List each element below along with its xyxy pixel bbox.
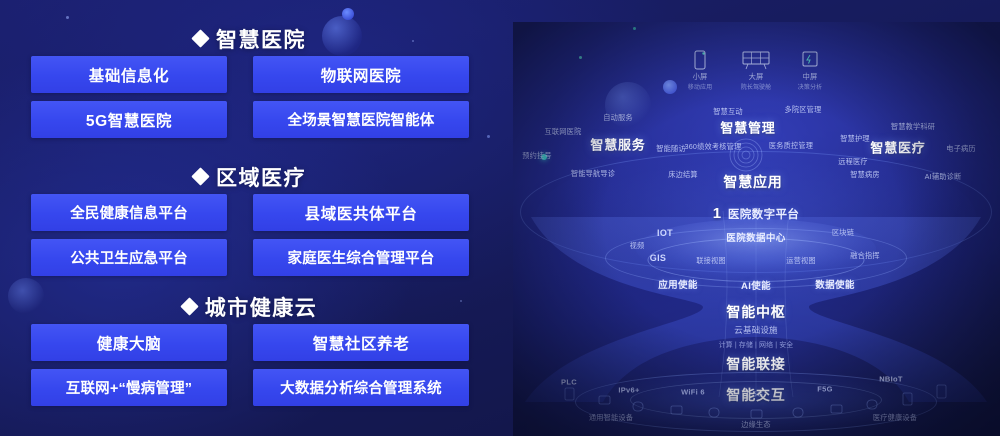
- platform-ring-outer: [605, 228, 907, 288]
- fingerprint-icon: [728, 137, 764, 173]
- enable-tag: AI使能: [741, 278, 771, 292]
- network-tag: 5G: [753, 390, 764, 399]
- medical-tag: 智慧病房: [850, 170, 880, 180]
- service-tag: 智能随访: [656, 144, 686, 154]
- section-grid: 全民健康信息平台 县域医共体平台 公共卫生应急平台 家庭医生综合管理平台: [0, 194, 500, 276]
- device-sublabel: 决策分析: [798, 82, 822, 91]
- diamond-icon: [191, 167, 209, 185]
- feature-cell[interactable]: 公共卫生应急平台: [31, 239, 227, 276]
- manage-tag: 远程医疗: [838, 157, 868, 167]
- section-grid: 基础信息化 物联网医院 5G智慧医院 全场景智慧医院智能体: [0, 56, 500, 138]
- device-sublabel: 院长驾驶舱: [741, 82, 772, 91]
- network-tag: NBIoT: [879, 375, 903, 384]
- decorative-speck: [541, 154, 547, 160]
- service-tag: 预约挂号: [522, 151, 552, 161]
- section-title: 智慧医院: [0, 22, 500, 56]
- phone-icon-caption: 小屏 移动应用: [688, 72, 712, 91]
- panel-vignette: [513, 22, 1000, 436]
- section-grid: 健康大脑 智慧社区养老 互联网+“慢病管理” 大数据分析综合管理系统: [0, 324, 500, 406]
- decorative-speck: [633, 27, 636, 30]
- domain-label-smart-medical: 智慧医疗: [870, 138, 925, 157]
- network-tag: F5G: [817, 385, 833, 394]
- decorative-orb: [605, 82, 651, 128]
- device-label: 大屏: [741, 72, 772, 82]
- device-label: 小屏: [688, 72, 712, 82]
- enable-tag: 应用使能: [658, 277, 698, 291]
- base-dish-rim: [575, 372, 937, 432]
- tablet-icon: [801, 50, 819, 70]
- hub-title: 云基础设施: [734, 324, 778, 336]
- platform-ring-tag: GIS: [650, 253, 666, 263]
- platform-ring-inner: [648, 238, 865, 282]
- feature-cell[interactable]: 全场景智慧医院智能体: [253, 101, 469, 138]
- feature-cell[interactable]: 家庭医生综合管理平台: [253, 239, 469, 276]
- manage-tag: 医务质控管理: [769, 141, 813, 151]
- section-title-text: 城市健康云: [205, 292, 318, 322]
- section-title: 区域医疗: [0, 160, 500, 194]
- medical-tag: 智慧护理: [840, 134, 870, 144]
- architecture-diagram-panel: 小屏 移动应用 大屏 院长驾驶舱 中屏 决策分析 自动服务 互联网医院 预约挂号…: [513, 22, 1000, 436]
- platform-ring-tag: 联接视图: [696, 256, 726, 266]
- platform-title-row: 1医院数字平台: [713, 205, 800, 223]
- edge-device-chips: [513, 374, 1000, 434]
- feature-cell[interactable]: 大数据分析综合管理系统: [253, 369, 469, 406]
- platform-ring-tag: 区块链: [832, 228, 854, 238]
- base-dish-inner: [630, 381, 882, 419]
- manage-tag: 多院区管理: [785, 105, 822, 115]
- hub-subtitle: 计算 | 存储 | 网络 | 安全: [719, 340, 794, 350]
- feature-cell[interactable]: 健康大脑: [31, 324, 227, 361]
- feature-cell[interactable]: 全民健康信息平台: [31, 194, 227, 231]
- section-smart-hospital: 智慧医院 基础信息化 物联网医院 5G智慧医院 全场景智慧医院智能体: [0, 22, 500, 138]
- edge-tag: 医疗健康设备: [873, 413, 917, 423]
- section-title: 城市健康云: [0, 290, 500, 324]
- enable-tag: 数据使能: [815, 277, 855, 291]
- platform-ring-tag: IOT: [657, 228, 673, 238]
- network-tag: IPv6+: [618, 386, 639, 395]
- feature-cell[interactable]: 5G智慧医院: [31, 101, 227, 138]
- infographic-stage: 智慧医院 基础信息化 物联网医院 5G智慧医院 全场景智慧医院智能体 区域医疗 …: [0, 0, 1000, 436]
- medical-tag: AI辅助诊断: [925, 172, 962, 182]
- feature-cell[interactable]: 智慧社区养老: [253, 324, 469, 361]
- platform-title: 医院数字平台: [728, 209, 799, 221]
- decorative-speck: [579, 56, 582, 59]
- platform-ring-tag: 运营视图: [786, 256, 816, 266]
- platform-ring-tag: 视频: [630, 241, 645, 251]
- service-tag: 自动服务: [603, 113, 633, 123]
- platform-ring-tag: 融合指挥: [850, 251, 880, 261]
- medical-tag: 电子病历: [946, 144, 976, 154]
- domain-label-smart-management: 智慧管理: [720, 118, 775, 137]
- display-wall-icon-caption: 大屏 院长驾驶舱: [741, 72, 772, 91]
- layer-label-intelligent-interaction: 智能交互: [726, 385, 785, 405]
- device-label: 中屏: [798, 72, 822, 82]
- platform-number: 1: [713, 205, 722, 222]
- service-tag: 智能导航导诊: [571, 169, 615, 179]
- layer-label-intelligent-connection: 智能联接: [726, 354, 785, 374]
- layer-label-intelligent-hub: 智能中枢: [726, 302, 785, 322]
- platform-core-label: 医院数据中心: [726, 230, 785, 244]
- manage-tag: 智慧互动: [713, 107, 743, 117]
- feature-cell[interactable]: 基础信息化: [31, 56, 227, 93]
- service-tag: 床边结算: [668, 170, 698, 180]
- tablet-icon-caption: 中屏 决策分析: [798, 72, 822, 91]
- feature-cell[interactable]: 互联网+“慢病管理”: [31, 369, 227, 406]
- service-tag: 互联网医院: [545, 127, 582, 137]
- edge-tag: 边缘生态: [741, 420, 771, 430]
- section-city-health-cloud: 城市健康云 健康大脑 智慧社区养老 互联网+“慢病管理” 大数据分析综合管理系统: [0, 290, 500, 406]
- feature-cell[interactable]: 物联网医院: [253, 56, 469, 93]
- device-sublabel: 移动应用: [688, 82, 712, 91]
- diamond-icon: [191, 29, 209, 47]
- decorative-orb: [663, 80, 677, 94]
- left-panel: 智慧医院 基础信息化 物联网医院 5G智慧医院 全场景智慧医院智能体 区域医疗 …: [0, 0, 500, 436]
- domain-label-smart-service: 智慧服务: [590, 135, 645, 154]
- phone-icon: [693, 50, 707, 70]
- layer-label-smart-application: 智慧应用: [723, 172, 782, 192]
- section-title-text: 区域医疗: [216, 162, 306, 192]
- network-tag: WiFi 6: [681, 388, 705, 397]
- funnel-shape: [513, 197, 1000, 412]
- diamond-icon: [180, 297, 198, 315]
- edge-tag: 通用智能设备: [589, 413, 633, 423]
- feature-cell[interactable]: 县域医共体平台: [253, 194, 469, 231]
- section-regional-medical: 区域医疗 全民健康信息平台 县域医共体平台 公共卫生应急平台 家庭医生综合管理平…: [0, 160, 500, 276]
- display-wall-icon: [741, 50, 771, 70]
- network-tag: PLC: [561, 378, 577, 387]
- medical-tag: 智慧教学科研: [891, 122, 935, 132]
- section-title-text: 智慧医院: [216, 24, 306, 54]
